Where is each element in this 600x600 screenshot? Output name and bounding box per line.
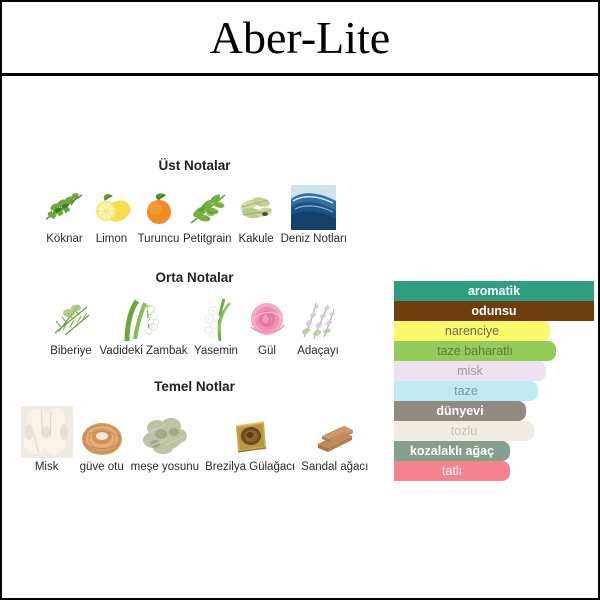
- orange-icon: [136, 185, 181, 230]
- note-item-label: Kakule: [238, 233, 273, 246]
- note-item-label: Biberiye: [50, 345, 92, 358]
- note-item-petitgrain[interactable]: Petitgrain: [183, 185, 232, 246]
- chart-bar[interactable]: odunsu: [394, 301, 594, 321]
- note-item-limon[interactable]: Limon: [89, 185, 134, 246]
- page-title: Aber-Lite: [210, 15, 390, 61]
- lily-of-the-valley-icon: [121, 297, 166, 342]
- chart-bar-label: taze baharatlı: [437, 345, 513, 358]
- note-group-heading: Üst Notalar: [2, 158, 387, 173]
- note-item-adacayi[interactable]: Adaçayı: [296, 297, 341, 358]
- note-group-heading: Temel Notlar: [2, 379, 387, 394]
- content-area: Üst Notalar: [2, 76, 598, 596]
- note-item-label: Gül: [258, 345, 276, 358]
- chart-bar-label: aromatik: [468, 285, 520, 298]
- sandalwood-icon: [312, 418, 358, 458]
- note-item-label: Misk: [35, 461, 59, 474]
- note-group-heading: Orta Notalar: [2, 270, 387, 285]
- note-item-brezilya-gulagaci[interactable]: Brezilya Gülağacı: [205, 414, 295, 474]
- sea-wave-icon: [291, 185, 336, 230]
- note-item-turuncu[interactable]: Turuncu: [136, 185, 181, 246]
- scent-profile-page: Aber-Lite Üst Notalar: [0, 0, 600, 600]
- note-item-sandal-agaci[interactable]: Sandal ağacı: [301, 418, 368, 474]
- note-item-vadideki-zambak[interactable]: Vadideki Zambak: [100, 297, 188, 358]
- chart-bar[interactable]: aromatik: [394, 281, 594, 301]
- chart-bar-label: taze: [454, 385, 478, 398]
- lemon-icon: [89, 185, 134, 230]
- sage-icon: [296, 297, 341, 342]
- note-item-koknar[interactable]: Köknar: [42, 185, 87, 246]
- note-item-guve-otu[interactable]: güve otu: [79, 412, 125, 474]
- mothwort-nest-icon: [79, 412, 125, 458]
- petitgrain-leaf-icon: [185, 185, 230, 230]
- note-item-label: meşe yosunu: [131, 461, 199, 474]
- rose-icon: [245, 297, 290, 342]
- chart-bar-label: dünyevi: [436, 405, 483, 418]
- note-item-kakule[interactable]: Kakule: [234, 185, 279, 246]
- note-item-label: Yasemin: [194, 345, 238, 358]
- note-item-label: Vadideki Zambak: [100, 345, 188, 358]
- title-bar: Aber-Lite: [2, 2, 598, 76]
- note-item-label: Sandal ağacı: [301, 461, 368, 474]
- rosemary-icon: [49, 297, 94, 342]
- chart-bar[interactable]: taze: [394, 381, 538, 401]
- chart-bar-label: tatlı: [442, 465, 462, 478]
- note-item-label: Brezilya Gülağacı: [205, 461, 295, 474]
- note-item-label: Turuncu: [138, 233, 180, 246]
- note-group-middle: Orta Notalar: [2, 270, 387, 358]
- note-item-mese-yosunu[interactable]: meşe yosunu: [131, 410, 199, 474]
- chart-bar[interactable]: tatlı: [394, 461, 510, 481]
- fir-branch-icon: [42, 185, 87, 230]
- note-item-label: Limon: [96, 233, 127, 246]
- note-item-label: Petitgrain: [183, 233, 232, 246]
- rosewood-icon: [228, 414, 272, 458]
- musk-icon: [21, 406, 73, 458]
- note-item-label: güve otu: [80, 461, 124, 474]
- chart-bar[interactable]: narenciye: [394, 321, 550, 341]
- chart-bar-label: misk: [457, 365, 483, 378]
- note-row: Biberiye: [2, 297, 387, 358]
- oakmoss-icon: [141, 410, 189, 458]
- note-item-label: Köknar: [46, 233, 82, 246]
- note-item-gul[interactable]: Gül: [245, 297, 290, 358]
- note-group-top: Üst Notalar: [2, 158, 387, 246]
- note-item-yasemin[interactable]: Yasemin: [194, 297, 239, 358]
- chart-bar[interactable]: taze baharatlı: [394, 341, 556, 361]
- jasmine-icon: [194, 297, 239, 342]
- note-item-label: Adaçayı: [297, 345, 339, 358]
- note-item-biberiye[interactable]: Biberiye: [49, 297, 94, 358]
- chart-bar-label: odunsu: [471, 305, 516, 318]
- chart-bar[interactable]: dünyevi: [394, 401, 526, 421]
- chart-bar[interactable]: kozalaklı ağaç: [394, 441, 510, 461]
- chart-bar[interactable]: misk: [394, 361, 546, 381]
- chart-bar-label: tozlu: [451, 425, 477, 438]
- note-group-base: Temel Notlar: [2, 379, 387, 474]
- note-item-misk[interactable]: Misk: [21, 406, 73, 474]
- scent-accord-bar-chart: aromatikodunsunarenciyetaze baharatlımis…: [394, 281, 594, 481]
- chart-bar[interactable]: tozlu: [394, 421, 534, 441]
- cardamom-icon: [234, 185, 279, 230]
- note-item-deniz-notlari[interactable]: Deniz Notları: [281, 185, 347, 246]
- chart-bar-label: narenciye: [445, 325, 499, 338]
- note-row: Köknar: [2, 185, 387, 246]
- chart-bar-label: kozalaklı ağaç: [410, 445, 494, 458]
- fragrance-notes-column: Üst Notalar: [2, 76, 387, 474]
- note-item-label: Deniz Notları: [281, 233, 347, 246]
- note-row: Misk: [2, 406, 387, 474]
